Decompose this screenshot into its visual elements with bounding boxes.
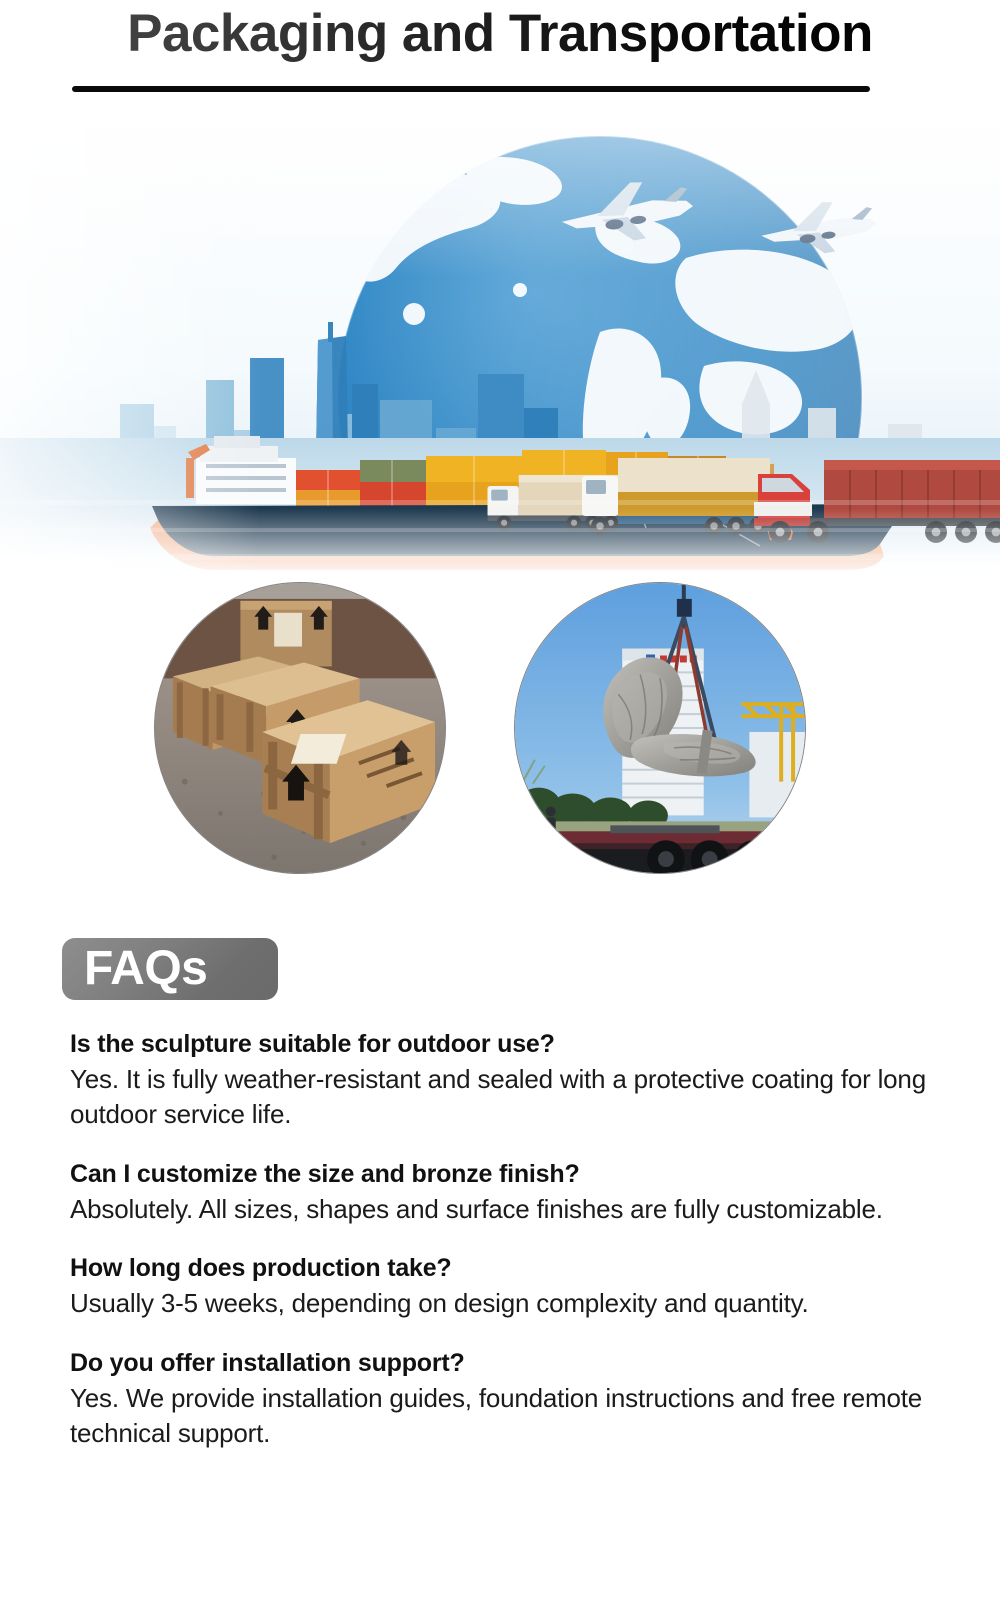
faq-answer: Yes. It is fully weather-resistant and s… — [70, 1062, 948, 1132]
photo-gallery — [0, 578, 1000, 878]
page-header: Packaging and Transportation — [0, 0, 1000, 105]
crane-photo-illustration — [515, 583, 805, 873]
wooden-crate-packing-photo — [154, 582, 446, 874]
faq-answer: Absolutely. All sizes, shapes and surfac… — [70, 1192, 948, 1227]
faq-item[interactable]: Can I customize the size and bronze fini… — [70, 1158, 950, 1227]
faq-item[interactable]: Do you offer installation support? Yes. … — [70, 1347, 950, 1451]
hero-illustration — [0, 108, 1000, 580]
faq-answer: Yes. We provide installation guides, fou… — [70, 1381, 948, 1451]
page-title: Packaging and Transportation — [0, 0, 1000, 70]
hero-logistics-banner — [0, 108, 1000, 580]
faq-question: Is the sculpture suitable for outdoor us… — [70, 1028, 950, 1060]
faq-badge-label: FAQs — [62, 945, 207, 993]
faq-question: How long does production take? — [70, 1252, 950, 1284]
crane-loading-sculpture-photo — [514, 582, 806, 874]
crate-photo-illustration — [155, 583, 445, 873]
faq-list: Is the sculpture suitable for outdoor us… — [70, 1028, 950, 1451]
faq-item[interactable]: How long does production take? Usually 3… — [70, 1252, 950, 1321]
faq-badge: FAQs — [62, 938, 278, 1000]
flatbed-trailer — [515, 825, 805, 873]
faq-question: Can I customize the size and bronze fini… — [70, 1158, 950, 1190]
title-divider — [72, 86, 870, 92]
worker-silhouette — [546, 806, 556, 833]
faq-question: Do you offer installation support? — [70, 1347, 950, 1379]
faq-item[interactable]: Is the sculpture suitable for outdoor us… — [70, 1028, 950, 1132]
faq-answer: Usually 3-5 weeks, depending on design c… — [70, 1286, 948, 1321]
